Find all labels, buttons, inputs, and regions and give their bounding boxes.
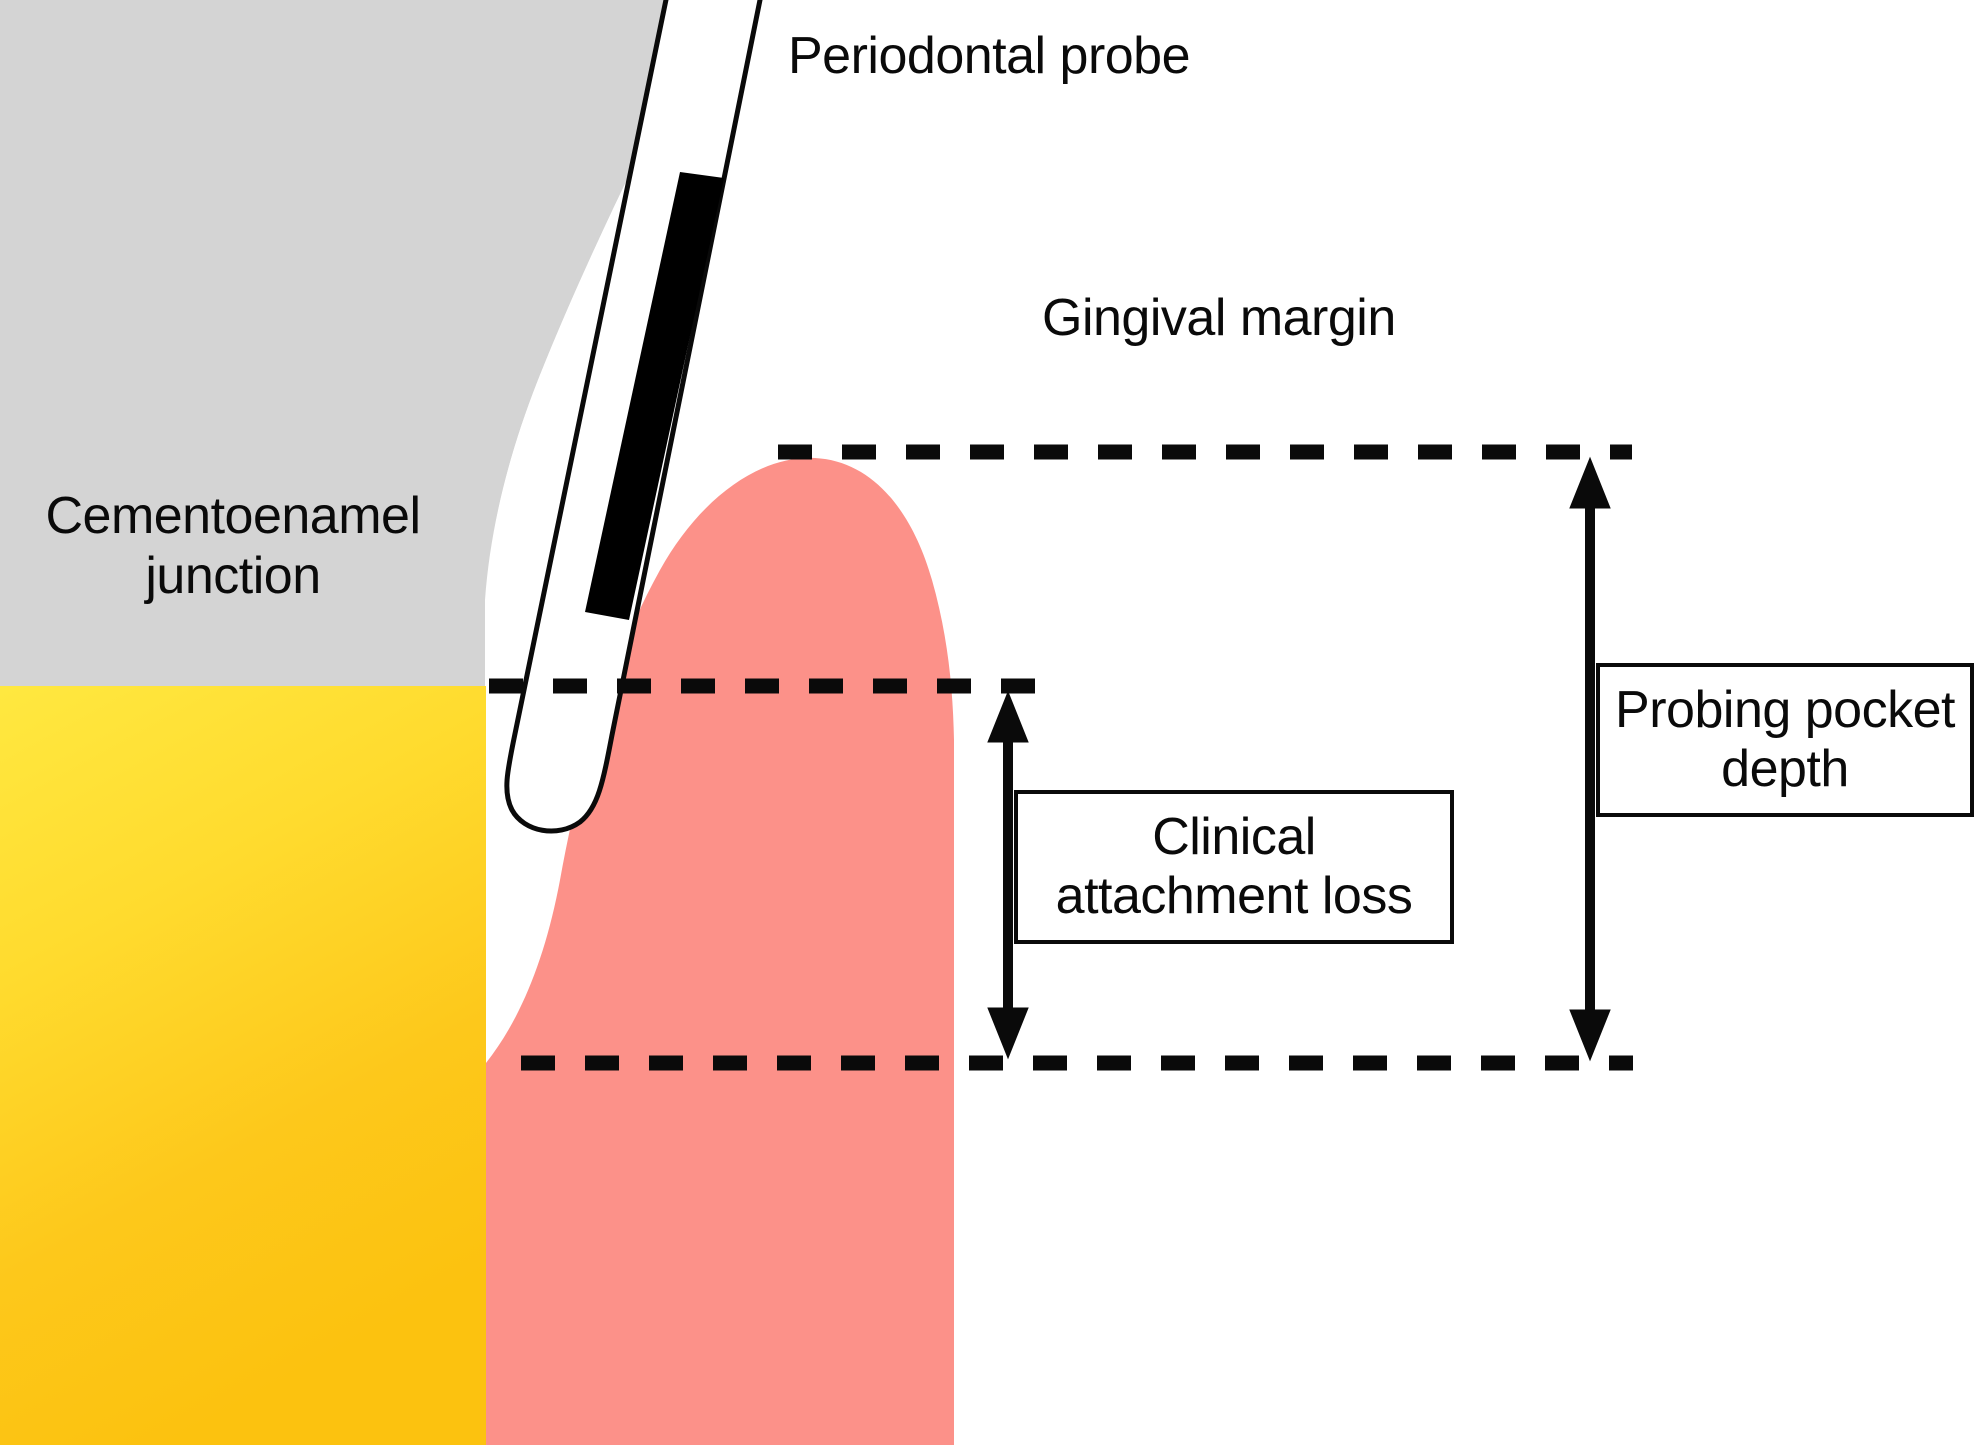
clinical-attachment-loss-callout: Clinical attachment loss [1014, 790, 1454, 944]
gingival-margin-label: Gingival margin [1042, 288, 1396, 348]
diagram-canvas: Periodontal probe Gingival margin Cement… [0, 0, 1979, 1445]
cementoenamel-junction-label: Cementoenamel junction [18, 486, 448, 607]
probing-pocket-depth-callout: Probing pocket depth [1596, 663, 1974, 817]
periodontal-probe-label: Periodontal probe [788, 26, 1190, 86]
tooth-root-dentin [0, 686, 486, 1445]
